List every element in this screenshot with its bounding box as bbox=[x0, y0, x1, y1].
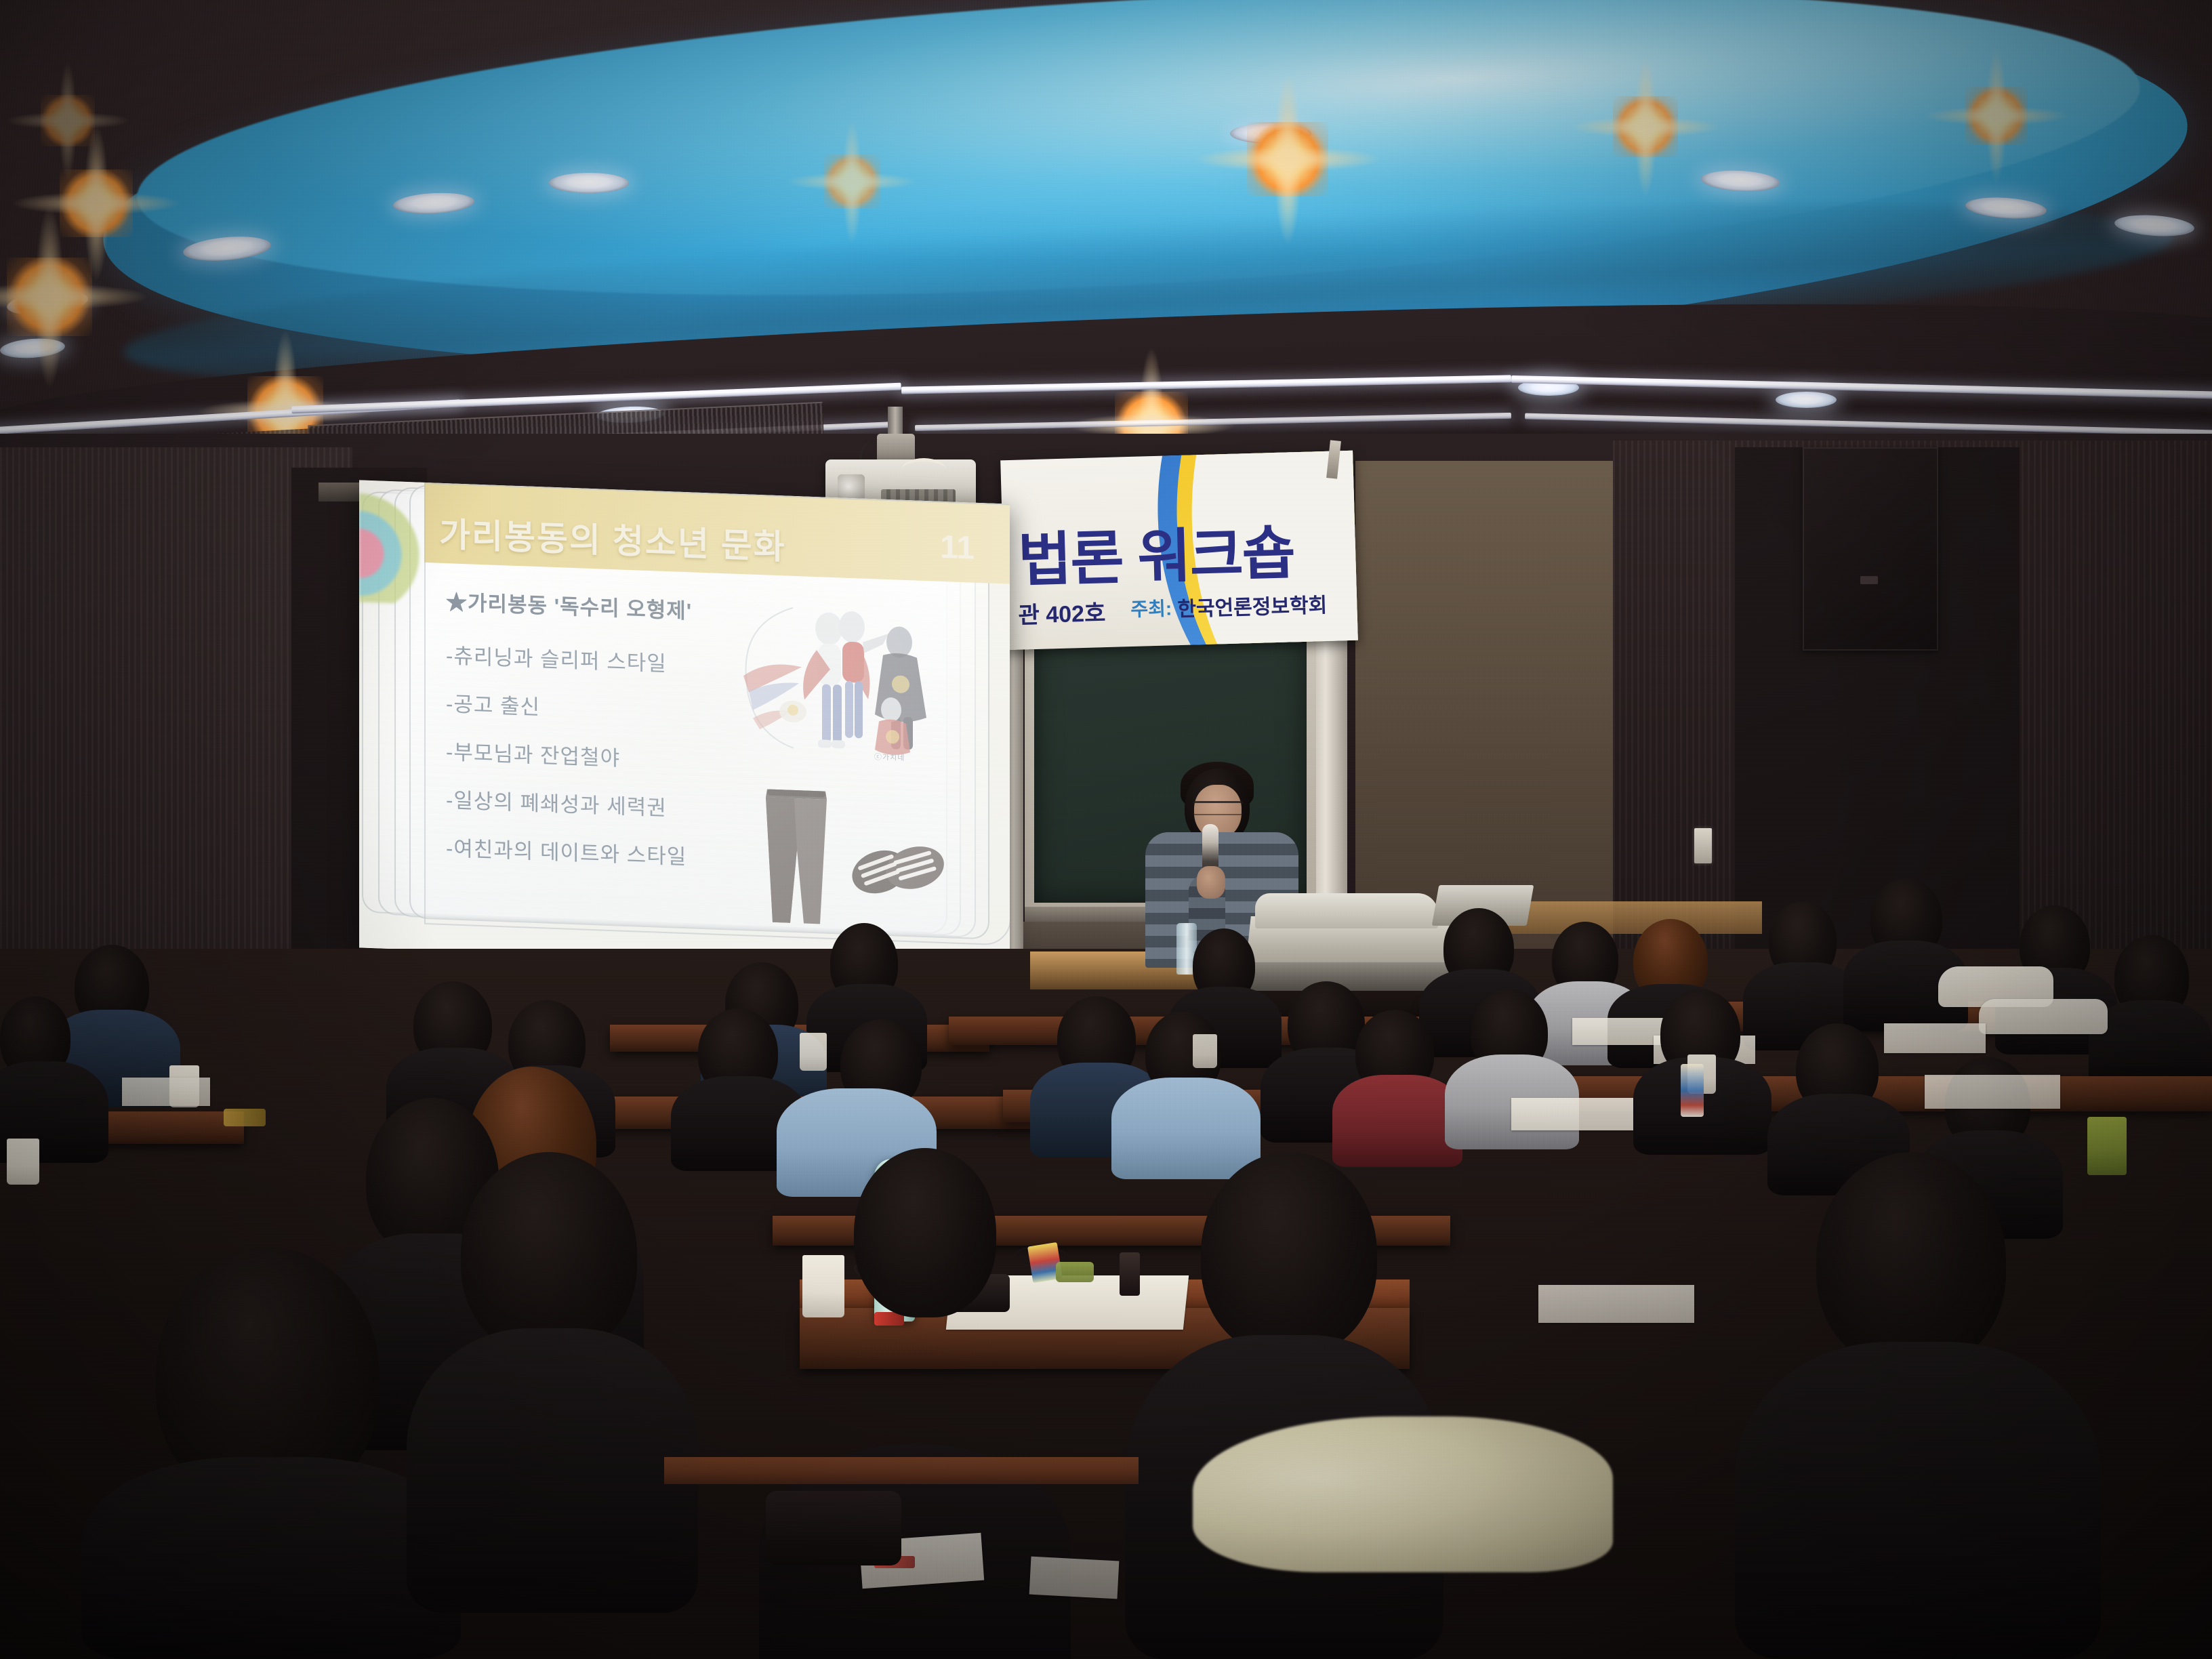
slide-bullet: -여친과의 데이트와 스타일 bbox=[446, 831, 798, 874]
handout-papers bbox=[1029, 1557, 1120, 1599]
glasses-icon bbox=[1193, 801, 1243, 815]
shearling-fur-collar bbox=[1193, 1416, 1613, 1572]
downlight-warm-icon bbox=[41, 95, 95, 146]
presentation-slide: 가리봉동의 청소년 문화 11 ★가리봉동 '독수리 오형제' -츄리닝과 슬리… bbox=[359, 480, 1010, 971]
speaker-logo bbox=[1860, 576, 1878, 584]
handout-papers bbox=[1884, 1023, 1986, 1053]
slide-page-number: 11 bbox=[940, 529, 975, 567]
snack-package bbox=[1056, 1262, 1094, 1282]
handout-papers bbox=[1538, 1285, 1694, 1323]
wall-speaker-icon bbox=[1803, 447, 1938, 651]
paper-cup bbox=[802, 1255, 844, 1317]
audience-body-foreground bbox=[1735, 1342, 2101, 1659]
bag bbox=[766, 1491, 901, 1565]
handout-papers bbox=[122, 1078, 210, 1106]
dark-pouch bbox=[1120, 1252, 1140, 1296]
lectern-top bbox=[1255, 893, 1438, 928]
lecture-hall-photo: 법론 워크숍 관 402호 주최: 한국언론정보학회 가리봉동의 청소년 문화 … bbox=[0, 0, 2212, 1659]
downlight-warm-icon bbox=[1965, 87, 2028, 145]
projection-screen: 가리봉동의 청소년 문화 11 ★가리봉동 '독수리 오형제' -츄리닝과 슬리… bbox=[359, 480, 1010, 971]
banner-host-organization: 한국언론정보학회 bbox=[1177, 588, 1328, 622]
paper-cup bbox=[800, 1033, 827, 1071]
downlight-warm-icon bbox=[1247, 122, 1328, 197]
banner-room-number: 관 402호 bbox=[1018, 594, 1106, 630]
downlight-warm-icon bbox=[1613, 96, 1678, 157]
handout-papers bbox=[1979, 999, 2108, 1034]
striped-slippers-image bbox=[847, 823, 949, 916]
banner-host-label: 주최: bbox=[1130, 594, 1172, 622]
snack-package bbox=[1681, 1064, 1704, 1117]
gatchaman-characters-image bbox=[729, 595, 932, 772]
audience-body-foreground bbox=[81, 1457, 461, 1659]
banner-title: 법론 워크숍 bbox=[1017, 505, 1295, 597]
grey-track-pants-image bbox=[752, 786, 840, 935]
presenter-hand bbox=[1197, 866, 1225, 899]
downlight-warm-icon bbox=[7, 258, 92, 336]
event-banner: 법론 워크숍 관 402호 주최: 한국언론정보학회 bbox=[1000, 451, 1358, 650]
audience-body-foreground bbox=[407, 1328, 698, 1613]
audience-head bbox=[854, 1148, 996, 1317]
light-switch-icon[interactable] bbox=[1694, 828, 1712, 863]
slide-bullet: -일상의 폐쇄성과 세력권 bbox=[446, 783, 798, 826]
handout-papers bbox=[1511, 1098, 1633, 1130]
audience-body-blue-shirt bbox=[1111, 1078, 1261, 1179]
audience-head-foreground bbox=[1816, 1152, 2006, 1369]
audience-body-red-scarf bbox=[1332, 1075, 1462, 1167]
projection-screen-housing bbox=[319, 483, 359, 501]
snack-package bbox=[224, 1109, 266, 1126]
handout-papers bbox=[1925, 1075, 2060, 1109]
downlight-white-icon bbox=[1776, 392, 1837, 408]
downlight-white-icon bbox=[549, 173, 629, 193]
audience-head-foreground bbox=[461, 1152, 637, 1355]
handout-papers bbox=[1572, 1018, 1667, 1045]
paper-cup bbox=[1193, 1034, 1217, 1068]
projector-cable bbox=[901, 458, 946, 482]
paper-cup bbox=[7, 1139, 39, 1185]
green-travel-tumbler bbox=[2087, 1117, 2127, 1175]
downlight-warm-icon bbox=[823, 155, 880, 209]
desk-row-front bbox=[664, 1457, 1139, 1484]
audience-head-foreground bbox=[1201, 1152, 1377, 1355]
slide-image-credit: ⓒ가치네 bbox=[874, 751, 905, 763]
